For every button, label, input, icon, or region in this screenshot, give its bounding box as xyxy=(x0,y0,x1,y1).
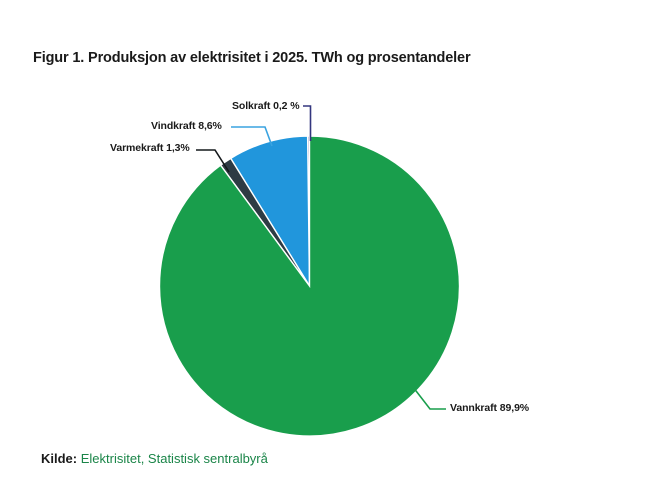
figure-container: Figur 1. Produksjon av elektrisitet i 20… xyxy=(0,0,650,500)
pie-label-varmekraft: Varmekraft 1,3% xyxy=(110,142,190,154)
pie-slice-group xyxy=(159,136,459,436)
pie-chart-svg xyxy=(0,0,650,500)
source-line: Kilde: Elektrisitet, Statistisk sentralb… xyxy=(41,451,268,466)
source-link[interactable]: Elektrisitet, Statistisk sentralbyrå xyxy=(81,451,268,466)
source-label: Kilde: xyxy=(41,451,77,466)
pie-label-solkraft: Solkraft 0,2 % xyxy=(232,100,299,112)
pie-label-vannkraft: Vannkraft 89,9% xyxy=(450,402,529,414)
pie-chart: Solkraft 0,2 % Vindkraft 8,6% Varmekraft… xyxy=(0,0,650,500)
pie-slice-vannkraft[interactable] xyxy=(159,136,459,436)
pie-label-vindkraft: Vindkraft 8,6% xyxy=(151,120,222,132)
